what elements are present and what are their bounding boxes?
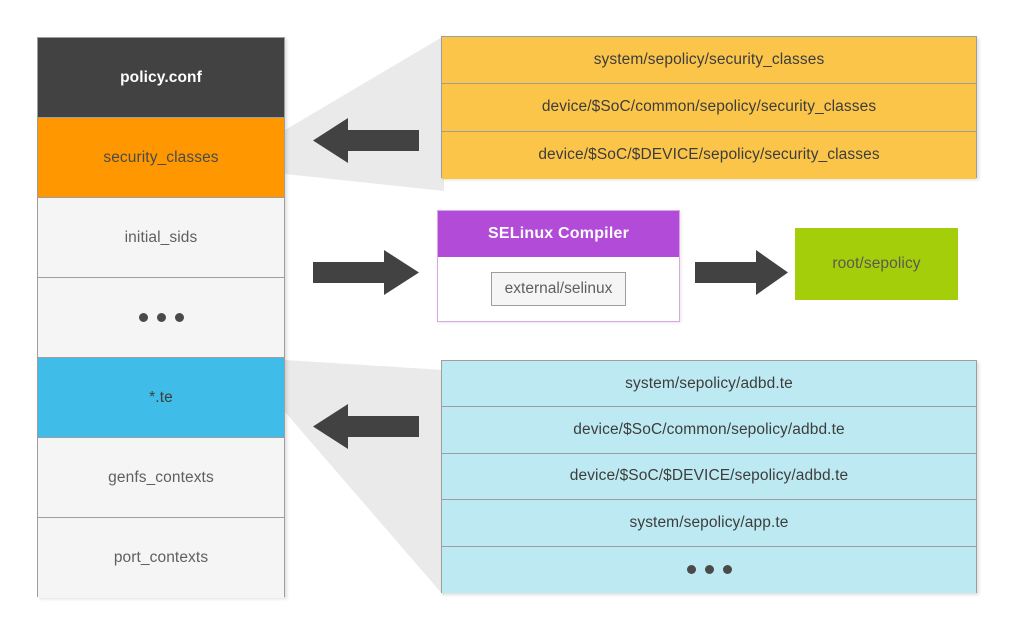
selinux-compiler-box: SELinux Compiler external/selinux — [437, 210, 680, 322]
stack-row-te-files[interactable]: *.te — [38, 358, 284, 438]
file-path-label: device/$SoC/$DEVICE/sepolicy/adbd.te — [570, 467, 848, 485]
stack-row-label: genfs_contexts — [108, 469, 214, 487]
arrow-right-to-compiler — [313, 246, 419, 299]
stack-row-label: security_classes — [103, 149, 218, 167]
file-path-label: device/$SoC/common/sepolicy/adbd.te — [573, 421, 844, 439]
stack-row-security-classes[interactable]: security_classes — [38, 118, 284, 198]
stack-row-label: policy.conf — [120, 69, 202, 87]
compiler-title: SELinux Compiler — [438, 211, 679, 257]
table-row-ellipsis[interactable] — [442, 547, 976, 593]
ellipsis-icon — [687, 565, 732, 574]
stack-row-label: port_contexts — [114, 549, 208, 567]
arrow-right-to-output — [695, 246, 788, 299]
compiler-title-label: SELinux Compiler — [488, 225, 629, 243]
table-row[interactable]: device/$SoC/$DEVICE/sepolicy/adbd.te — [442, 454, 976, 500]
stack-row-genfs-contexts[interactable]: genfs_contexts — [38, 438, 284, 518]
output-label: root/sepolicy — [832, 255, 920, 273]
file-path-label: system/sepolicy/security_classes — [594, 51, 825, 69]
arrow-left-security-classes — [313, 114, 419, 167]
te-file-table: system/sepolicy/adbd.te device/$SoC/comm… — [441, 360, 977, 593]
ellipsis-icon — [139, 313, 184, 322]
table-row[interactable]: system/sepolicy/security_classes — [442, 37, 976, 84]
security-classes-file-table: system/sepolicy/security_classes device/… — [441, 36, 977, 178]
stack-row-policy-conf[interactable]: policy.conf — [38, 38, 284, 118]
file-path-label: device/$SoC/$DEVICE/sepolicy/security_cl… — [538, 146, 879, 164]
stack-row-label: *.te — [149, 389, 173, 407]
file-path-label: device/$SoC/common/sepolicy/security_cla… — [542, 98, 876, 116]
compiler-body: external/selinux — [438, 257, 679, 321]
stack-row-label: initial_sids — [125, 229, 198, 247]
stack-row-port-contexts[interactable]: port_contexts — [38, 518, 284, 598]
file-path-label: system/sepolicy/adbd.te — [625, 375, 793, 393]
output-sepolicy-box: root/sepolicy — [795, 228, 958, 300]
table-row[interactable]: device/$SoC/common/sepolicy/security_cla… — [442, 84, 976, 131]
table-row[interactable]: device/$SoC/$DEVICE/sepolicy/security_cl… — [442, 132, 976, 179]
compiler-source-label: external/selinux — [505, 280, 613, 297]
connector-security-classes — [282, 33, 444, 193]
file-path-label: system/sepolicy/app.te — [630, 514, 789, 532]
table-row[interactable]: device/$SoC/common/sepolicy/adbd.te — [442, 407, 976, 453]
diagram-canvas: policy.conf security_classes initial_sid… — [0, 0, 1013, 618]
table-row[interactable]: system/sepolicy/app.te — [442, 500, 976, 546]
arrow-left-te — [313, 400, 419, 453]
compiler-source-chip[interactable]: external/selinux — [491, 272, 627, 306]
connector-te — [282, 352, 444, 598]
table-row[interactable]: system/sepolicy/adbd.te — [442, 361, 976, 407]
policy-conf-stack: policy.conf security_classes initial_sid… — [37, 37, 285, 597]
stack-row-ellipsis[interactable] — [38, 278, 284, 358]
stack-row-initial-sids[interactable]: initial_sids — [38, 198, 284, 278]
